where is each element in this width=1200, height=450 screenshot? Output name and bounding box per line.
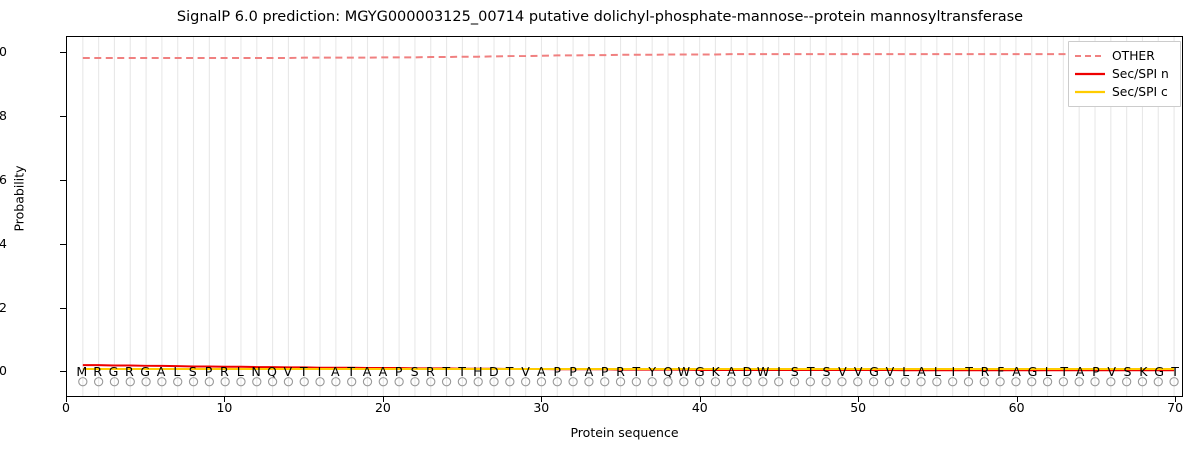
- y-tick-label: 0.8: [0, 110, 7, 123]
- legend-label-other: OTHER: [1112, 49, 1155, 63]
- legend-swatch-sec-spi-n-line: [1075, 68, 1105, 80]
- residue-letter: I: [777, 366, 781, 379]
- residue-letter: V: [854, 366, 863, 379]
- residue-letter: G: [109, 366, 119, 379]
- x-tick-label: 10: [216, 402, 232, 415]
- residue-letter: A: [331, 366, 340, 379]
- residue-letter: T: [633, 366, 641, 379]
- y-tick-label: 0.4: [0, 237, 7, 250]
- residue-letter: V: [838, 366, 847, 379]
- residue-letter: P: [553, 366, 561, 379]
- residue-letter: A: [585, 366, 594, 379]
- series-line-other: [83, 54, 1174, 58]
- legend-swatch-other-dashed-line: [1075, 50, 1105, 62]
- residue-letter: S: [791, 366, 799, 379]
- residue-letter: T: [347, 366, 355, 379]
- residue-letter: R: [93, 366, 102, 379]
- residue-letter: A: [537, 366, 546, 379]
- residue-letter: D: [489, 366, 499, 379]
- residue-letter: S: [823, 366, 831, 379]
- residue-letter: T: [807, 366, 815, 379]
- residue-letter: N: [251, 366, 260, 379]
- residue-letter: K: [1139, 366, 1147, 379]
- residue-letter: Q: [663, 366, 673, 379]
- residue-letter: K: [711, 366, 719, 379]
- x-tick-label: 50: [850, 402, 866, 415]
- residue-letter: T: [1171, 366, 1179, 379]
- x-tick-label: 30: [533, 402, 549, 415]
- signalp-prediction-figure: SignalP 6.0 prediction: MGYG000003125_00…: [0, 0, 1200, 450]
- y-tick-label: 0.6: [0, 174, 7, 187]
- x-tick-label: 70: [1167, 402, 1183, 415]
- x-tick-label: 0: [62, 402, 70, 415]
- residue-letter: R: [426, 366, 435, 379]
- residue-letter: P: [205, 366, 213, 379]
- residue-letter: Y: [648, 366, 656, 379]
- legend-item-sec-spi-n[interactable]: Sec/SPI n: [1075, 65, 1174, 83]
- residue-letter: S: [1124, 366, 1132, 379]
- residue-letter: T: [1060, 366, 1068, 379]
- residue-letter: T: [442, 366, 450, 379]
- legend-label-sec-spi-c: Sec/SPI c: [1112, 85, 1168, 99]
- legend-item-other[interactable]: OTHER: [1075, 47, 1174, 65]
- residue-letter: P: [395, 366, 403, 379]
- residue-letter: F: [997, 366, 1004, 379]
- residue-letter: S: [189, 366, 197, 379]
- residue-letter: W: [678, 366, 690, 379]
- y-axis-label-wrapper: Probability: [0, 36, 1, 397]
- residue-letter: T: [965, 366, 973, 379]
- residue-letter: G: [140, 366, 150, 379]
- x-tick-label: 40: [692, 402, 708, 415]
- residue-letter: A: [917, 366, 926, 379]
- residue-letter: G: [695, 366, 705, 379]
- residue-letter: M: [76, 366, 87, 379]
- residue-letter: S: [411, 366, 419, 379]
- residue-letter: P: [601, 366, 609, 379]
- residue-letter: P: [569, 366, 577, 379]
- residue-letter: L: [934, 366, 941, 379]
- residue-letter: G: [869, 366, 879, 379]
- residue-letter: P: [1092, 366, 1100, 379]
- residue-letter: I: [951, 366, 955, 379]
- x-tick-label: 20: [375, 402, 391, 415]
- residue-letter: A: [1012, 366, 1021, 379]
- data-series-layer: [67, 37, 1182, 396]
- residue-letter: V: [1107, 366, 1116, 379]
- residue-letter: A: [1076, 366, 1085, 379]
- residue-letter: L: [173, 366, 180, 379]
- y-axis-label: Probability: [12, 165, 27, 231]
- legend-swatch-sec-spi-c-line: [1075, 86, 1105, 98]
- residue-letter: R: [220, 366, 229, 379]
- residue-letter: R: [981, 366, 990, 379]
- residue-letter: V: [886, 366, 895, 379]
- residue-letter: G: [1154, 366, 1164, 379]
- legend-label-sec-spi-n: Sec/SPI n: [1112, 67, 1169, 81]
- residue-letter: R: [616, 366, 625, 379]
- residue-letter: R: [125, 366, 134, 379]
- residue-letter: D: [742, 366, 752, 379]
- y-tick-label: 0.0: [0, 365, 7, 378]
- residue-letter: T: [506, 366, 514, 379]
- x-axis-label: Protein sequence: [66, 425, 1183, 440]
- residue-letter: L: [237, 366, 244, 379]
- page-title: SignalP 6.0 prediction: MGYG000003125_00…: [0, 9, 1200, 25]
- residue-letter: I: [318, 366, 322, 379]
- residue-letter: L: [902, 366, 909, 379]
- residue-letter: T: [458, 366, 466, 379]
- residue-letter: T: [300, 366, 308, 379]
- y-tick-label: 0.2: [0, 301, 7, 314]
- residue-letter: G: [1028, 366, 1038, 379]
- residue-letter: A: [363, 366, 372, 379]
- plot-area: [66, 36, 1183, 397]
- residue-letter: A: [727, 366, 736, 379]
- residue-letter: V: [521, 366, 530, 379]
- residue-letter: A: [157, 366, 166, 379]
- residue-letter: L: [1045, 366, 1052, 379]
- residue-sequence-row: MRGRGALSPRLNQVTIATAAPSRTTHDTVAPPAPRTYQWG…: [66, 366, 1183, 382]
- residue-letter: W: [757, 366, 769, 379]
- x-tick-label: 60: [1009, 402, 1025, 415]
- legend-item-sec-spi-c[interactable]: Sec/SPI c: [1075, 83, 1174, 101]
- residue-letter: V: [283, 366, 292, 379]
- y-tick-label: 1.0: [0, 46, 7, 59]
- residue-letter: H: [473, 366, 482, 379]
- chart-legend: OTHER Sec/SPI n Sec/SPI c: [1068, 41, 1181, 107]
- residue-letter: A: [379, 366, 388, 379]
- residue-letter: Q: [267, 366, 277, 379]
